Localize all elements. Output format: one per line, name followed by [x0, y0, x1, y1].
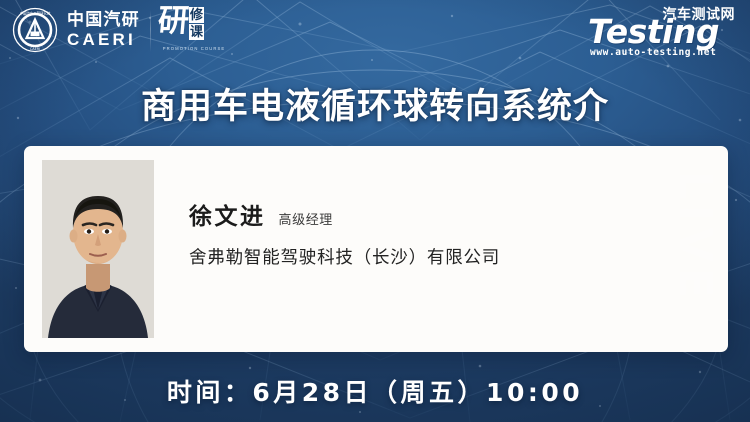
speaker-name-row: 徐文进 高级经理: [189, 206, 500, 229]
course-logo-glyphs: 研 修 课: [158, 6, 230, 44]
speaker-info: 徐文进 高级经理 舍弗勒智能驾驶科技（长沙）有限公司: [189, 206, 500, 268]
logo-divider: [150, 10, 151, 52]
caeri-english-name: CAERI: [67, 31, 140, 49]
caeri-wordmark: 中国汽研 CAERI: [67, 12, 140, 49]
course-logo-box-bottom: 课: [189, 24, 204, 40]
course-logo-subtitle: PROMOTION COURSE: [158, 46, 230, 51]
speaker-photo: [42, 160, 154, 338]
auto-testing-url: www.auto-testing.net: [590, 48, 716, 58]
webinar-poster: 中国汽车工程研究院 CAERI 中国汽研 CAERI 研 修 课 PROMOTI…: [0, 0, 750, 422]
svg-text:中国汽车工程研究院: 中国汽车工程研究院: [20, 10, 51, 15]
page-title: 商用车电液循环球转向系统介: [0, 81, 750, 125]
speaker-company: 舍弗勒智能驾驶科技（长沙）有限公司: [189, 250, 500, 268]
caeri-chinese-name: 中国汽研: [67, 12, 140, 30]
auto-testing-logo: 汽车测试网 Testing www.auto-testing.net: [586, 4, 736, 62]
speaker-name: 徐文进: [189, 206, 266, 229]
caeri-logo: 中国汽车工程研究院 CAERI 中国汽研 CAERI: [12, 7, 140, 53]
speaker-card: 徐文进 高级经理 舍弗勒智能驾驶科技（长沙）有限公司: [24, 146, 728, 352]
course-logo: 研 修 课 PROMOTION COURSE: [158, 6, 230, 58]
auto-testing-wordmark: Testing: [588, 15, 719, 48]
caeri-emblem-icon: 中国汽车工程研究院 CAERI: [12, 7, 58, 53]
course-logo-boxes: 修 课: [189, 6, 204, 40]
course-logo-box-top: 修: [189, 7, 204, 23]
speaker-portrait-image: [42, 160, 154, 338]
svg-text:CAERI: CAERI: [30, 47, 40, 51]
event-time: 时间：6月28日（周五）10:00: [0, 374, 750, 408]
speaker-role: 高级经理: [279, 214, 333, 227]
course-logo-main-char: 研: [157, 6, 190, 37]
